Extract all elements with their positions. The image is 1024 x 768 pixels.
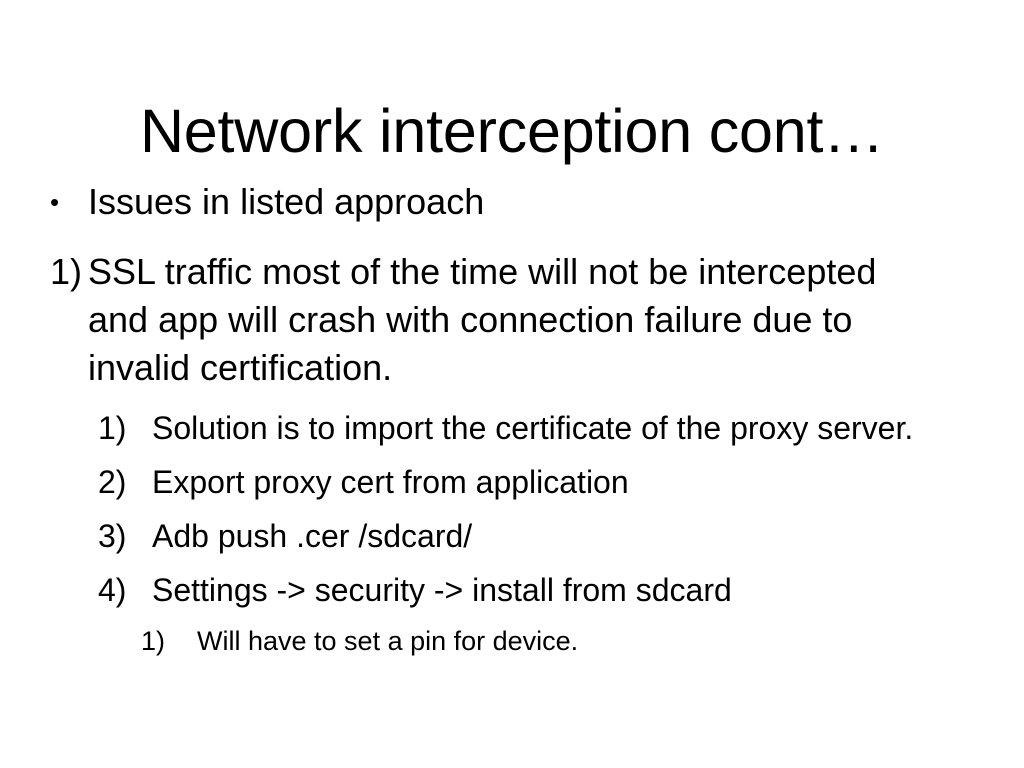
spacer [0, 392, 1024, 406]
list-item-text: Issues in listed approach [88, 178, 918, 226]
bullet-marker-icon: • [50, 178, 88, 226]
list-item-text: Export proxy cert from application [152, 460, 942, 504]
spacer [0, 450, 1024, 460]
number-marker: 4) [98, 568, 152, 612]
slide-body: • Issues in listed approach 1) SSL traff… [0, 178, 1024, 660]
page-title: Network interception cont… [40, 99, 984, 163]
list-item: 1) Will have to set a pin for device. [0, 622, 1024, 660]
list-item: 1) SSL traffic most of the time will not… [0, 248, 1024, 392]
number-marker: 1) [98, 406, 152, 450]
slide: Network interception cont… • Issues in l… [0, 0, 1024, 768]
list-item: 2) Export proxy cert from application [0, 460, 1024, 504]
spacer [0, 504, 1024, 514]
list-item-text: Settings -> security -> install from sdc… [152, 568, 942, 612]
number-marker: 3) [98, 514, 152, 558]
number-marker: 1) [141, 622, 197, 660]
list-item-text: Solution is to import the certificate of… [152, 406, 942, 450]
spacer [0, 612, 1024, 622]
number-marker: 2) [98, 460, 152, 504]
list-item: • Issues in listed approach [0, 178, 1024, 226]
spacer [0, 558, 1024, 568]
list-item: 3) Adb push .cer /sdcard/ [0, 514, 1024, 558]
list-item-text: Will have to set a pin for device. [197, 622, 964, 660]
number-marker: 1) [50, 248, 88, 296]
list-item-text: SSL traffic most of the time will not be… [88, 248, 918, 392]
list-item: 1) Solution is to import the certificate… [0, 406, 1024, 450]
list-item: 4) Settings -> security -> install from … [0, 568, 1024, 612]
list-item-text: Adb push .cer /sdcard/ [152, 514, 942, 558]
spacer [0, 226, 1024, 248]
